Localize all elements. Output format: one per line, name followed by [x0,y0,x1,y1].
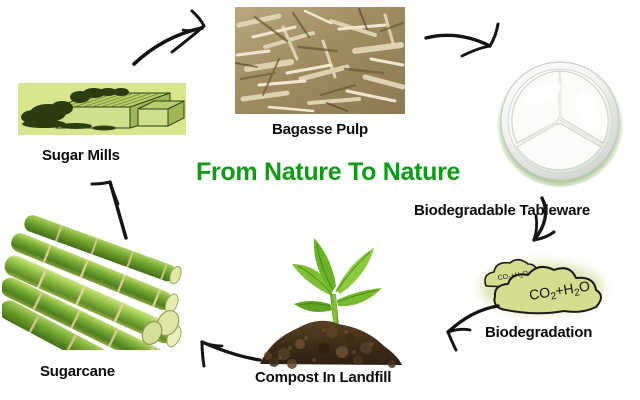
lifecycle-diagram: Sugar Mills [0,0,640,400]
sugar-mill-buildings-illustration [18,83,186,135]
arrow-tableware-to-biodegradation [496,196,558,258]
arrow-biodegradation-to-compost [418,300,502,354]
bagasse-fiber-photo [235,7,405,114]
page-title: From Nature To Nature [196,160,460,185]
label-compost-in-landfill: Compost In Landfill [255,370,391,385]
seedling-in-soil-photo [254,224,406,372]
label-sugar-mills: Sugar Mills [42,148,120,163]
arrow-sugar-mills-to-bagasse-pulp [130,8,240,70]
arrow-compost-to-sugarcane [178,326,264,372]
arrow-bagasse-pulp-to-tableware [424,22,520,88]
arrow-sugarcane-to-sugar-mills [92,170,148,242]
label-bagasse-pulp: Bagasse Pulp [272,122,368,137]
label-sugarcane: Sugarcane [40,364,115,379]
